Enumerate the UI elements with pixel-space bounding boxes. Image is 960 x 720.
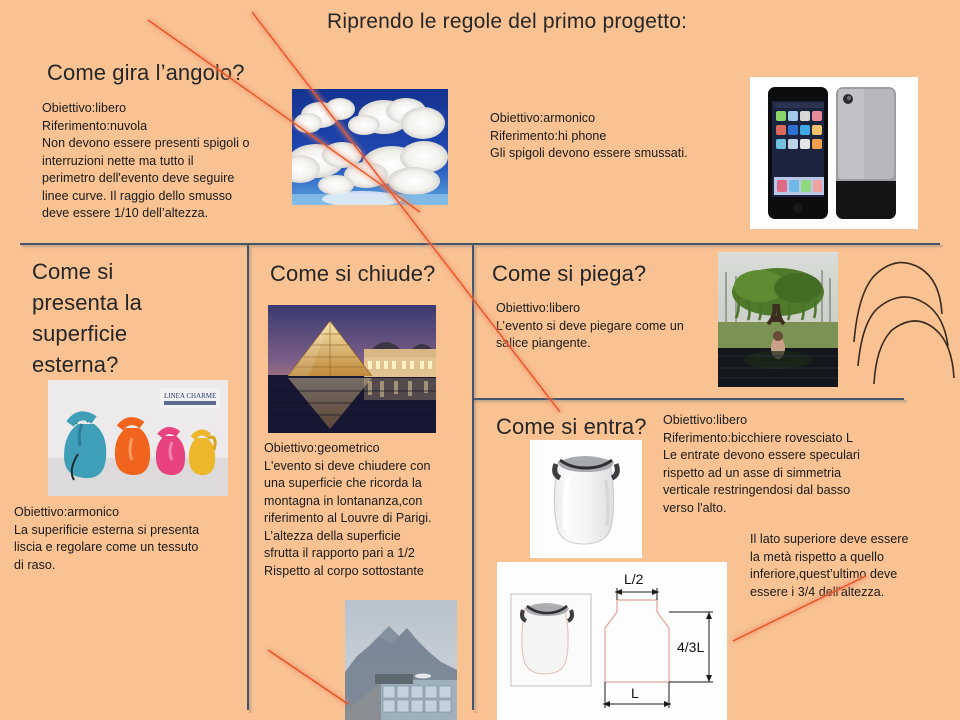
diagram-label-top: L/2 <box>624 571 644 587</box>
heading-come-si-piega: Come si piega? <box>492 258 646 289</box>
glass-proportions-diagram: L/2 4/3L L <box>497 562 727 720</box>
body-proporzioni-lato: Il lato superiore deve essere la metà ri… <box>750 531 960 601</box>
heading-come-si-presenta-la-superficie-esterna: Come si presenta la superficie esterna? <box>32 256 232 380</box>
mountain-building-photo <box>345 600 457 720</box>
diagram-label-height: 4/3L <box>677 639 704 655</box>
page-title: Riprendo le regole del primo progetto: <box>327 10 687 34</box>
satin-pouches-photo: LINEA CHARME <box>48 380 228 496</box>
separator-vertical-left <box>247 245 249 710</box>
svg-text:LINEA CHARME: LINEA CHARME <box>164 392 216 400</box>
body-come-gira-l-angolo: Obiettivo:libero Riferimento:nuvola Non … <box>42 100 292 223</box>
body-come-si-entra: Obiettivo:libero Riferimento:bicchiere r… <box>663 412 953 517</box>
heading-come-gira-l-angolo: Come gira l’angolo? <box>47 57 245 88</box>
heading-come-si-chiude: Come si chiude? <box>270 258 435 289</box>
separator-horizontal-top <box>20 243 940 245</box>
upturned-glass-photo <box>530 440 642 558</box>
heading-come-si-entra: Come si entra? <box>496 411 647 442</box>
diagram-label-bottom: L <box>631 685 639 701</box>
louvre-pyramid-photo <box>268 305 436 433</box>
body-superficie-esterna: Obiettivo:armonico La superificie estern… <box>14 504 254 574</box>
willow-tree-photo <box>718 252 838 387</box>
clouds-photo <box>292 89 448 205</box>
iphone-photo <box>750 77 918 229</box>
arch-curves-sketch <box>852 246 960 386</box>
separator-horizontal-middle <box>472 398 904 400</box>
body-come-si-chiude: Obiettivo:geometrico L'evento si deve ch… <box>264 440 474 580</box>
body-come-si-piega: Obiettivo:libero L’evento si deve piegar… <box>496 300 726 353</box>
body-spigoli-smussati: Obiettivo:armonico Riferimento:hi phone … <box>490 110 770 163</box>
presentation-slide: Riprendo le regole del primo progetto: C… <box>0 0 960 720</box>
